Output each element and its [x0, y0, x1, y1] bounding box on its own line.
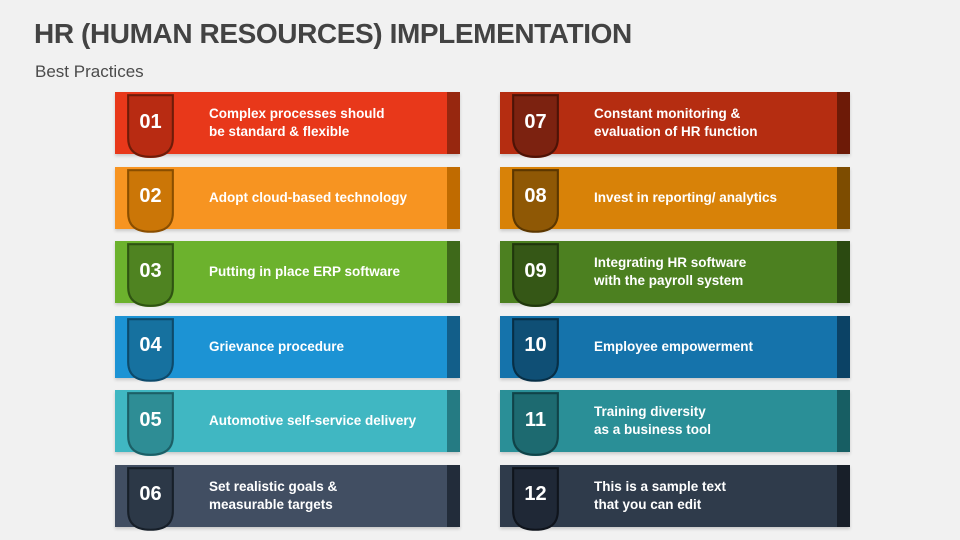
- practice-label-line: Integrating HR software: [594, 254, 832, 272]
- practice-label: Integrating HR softwarewith the payroll …: [594, 241, 832, 303]
- row-accent-edge: [447, 390, 460, 452]
- practice-label: Grievance procedure: [209, 316, 442, 378]
- practice-label-line: This is a sample text: [594, 478, 832, 496]
- practice-label-line: as a business tool: [594, 421, 832, 439]
- right-column: 07Constant monitoring &evaluation of HR …: [500, 92, 850, 539]
- practice-label-line: with the payroll system: [594, 272, 832, 290]
- row-accent-edge: [837, 92, 850, 154]
- row-accent-edge: [447, 92, 460, 154]
- practice-label: This is a sample textthat you can edit: [594, 465, 832, 527]
- practice-row[interactable]: 10Employee empowerment: [500, 316, 850, 378]
- badge-number: 11: [512, 392, 559, 448]
- practice-label-line: Employee empowerment: [594, 338, 832, 356]
- practice-label: Set realistic goals &measurable targets: [209, 465, 442, 527]
- row-accent-edge: [837, 390, 850, 452]
- badge-number: 09: [512, 243, 559, 299]
- badge-number: 12: [512, 467, 559, 523]
- practice-label: Employee empowerment: [594, 316, 832, 378]
- practice-row[interactable]: 03Putting in place ERP software: [115, 241, 460, 303]
- badge-number: 06: [127, 467, 174, 523]
- practice-label-line: be standard & flexible: [209, 123, 442, 141]
- practice-row[interactable]: 09Integrating HR softwarewith the payrol…: [500, 241, 850, 303]
- row-accent-edge: [837, 316, 850, 378]
- page-title: HR (HUMAN RESOURCES) IMPLEMENTATION: [34, 18, 632, 50]
- left-column: 01Complex processes shouldbe standard & …: [115, 92, 460, 539]
- practice-label: Constant monitoring &evaluation of HR fu…: [594, 92, 832, 154]
- practice-row[interactable]: 04Grievance procedure: [115, 316, 460, 378]
- practice-label-line: Adopt cloud-based technology: [209, 189, 442, 207]
- badge-number: 05: [127, 392, 174, 448]
- practice-row[interactable]: 02Adopt cloud-based technology: [115, 167, 460, 229]
- practice-label-line: Automotive self-service delivery: [209, 412, 442, 430]
- practice-row[interactable]: 12This is a sample textthat you can edit: [500, 465, 850, 527]
- badge-number: 03: [127, 243, 174, 299]
- practice-row[interactable]: 06Set realistic goals &measurable target…: [115, 465, 460, 527]
- page-subtitle: Best Practices: [35, 62, 144, 82]
- practice-label-line: Complex processes should: [209, 105, 442, 123]
- row-accent-edge: [447, 241, 460, 303]
- practice-row[interactable]: 08Invest in reporting/ analytics: [500, 167, 850, 229]
- badge-number: 04: [127, 318, 174, 374]
- badge-number: 07: [512, 94, 559, 150]
- row-accent-edge: [837, 465, 850, 527]
- practice-row[interactable]: 05Automotive self-service delivery: [115, 390, 460, 452]
- badge-number: 01: [127, 94, 174, 150]
- practice-label-line: Invest in reporting/ analytics: [594, 189, 832, 207]
- slide-canvas: HR (HUMAN RESOURCES) IMPLEMENTATION Best…: [0, 0, 960, 540]
- row-accent-edge: [447, 316, 460, 378]
- row-accent-edge: [447, 465, 460, 527]
- practice-label-line: Training diversity: [594, 403, 832, 421]
- practice-label-line: Putting in place ERP software: [209, 263, 442, 281]
- badge-number: 10: [512, 318, 559, 374]
- practice-label-line: Constant monitoring &: [594, 105, 832, 123]
- practice-label: Putting in place ERP software: [209, 241, 442, 303]
- practice-label: Automotive self-service delivery: [209, 390, 442, 452]
- practice-row[interactable]: 01Complex processes shouldbe standard & …: [115, 92, 460, 154]
- practice-label-line: Set realistic goals &: [209, 478, 442, 496]
- row-accent-edge: [837, 167, 850, 229]
- row-accent-edge: [837, 241, 850, 303]
- practice-label-line: measurable targets: [209, 496, 442, 514]
- practice-label-line: Grievance procedure: [209, 338, 442, 356]
- practice-label-line: evaluation of HR function: [594, 123, 832, 141]
- badge-number: 08: [512, 169, 559, 225]
- row-accent-edge: [447, 167, 460, 229]
- practice-label-line: that you can edit: [594, 496, 832, 514]
- practice-row[interactable]: 11Training diversityas a business tool: [500, 390, 850, 452]
- practice-row[interactable]: 07Constant monitoring &evaluation of HR …: [500, 92, 850, 154]
- practice-label: Complex processes shouldbe standard & fl…: [209, 92, 442, 154]
- practice-label: Invest in reporting/ analytics: [594, 167, 832, 229]
- practice-label: Adopt cloud-based technology: [209, 167, 442, 229]
- badge-number: 02: [127, 169, 174, 225]
- practice-label: Training diversityas a business tool: [594, 390, 832, 452]
